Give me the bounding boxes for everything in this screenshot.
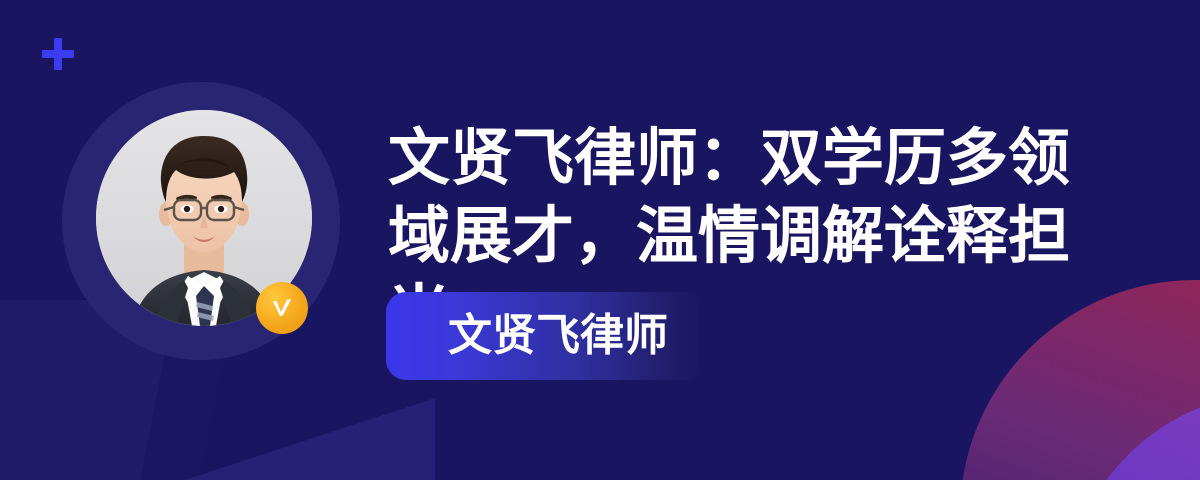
decorative-circle-inner <box>1065 392 1200 480</box>
lawyer-name-label: 文贤飞律师 <box>448 314 668 358</box>
plus-icon <box>42 38 74 70</box>
avatar <box>96 110 312 326</box>
verified-badge-icon <box>256 282 308 334</box>
promo-banner: 文贤飞律师：双学历多领域展才，温情调解诠释担当 文贤飞律师 <box>0 0 1200 480</box>
decorative-triangle-wedge <box>185 398 435 480</box>
decorative-angled-bar-mid <box>131 330 230 480</box>
lawyer-name-pill[interactable]: 文贤飞律师 <box>386 292 708 380</box>
decorative-angled-bar-left <box>0 300 195 480</box>
plus-icon-vertical-bar <box>54 38 62 70</box>
